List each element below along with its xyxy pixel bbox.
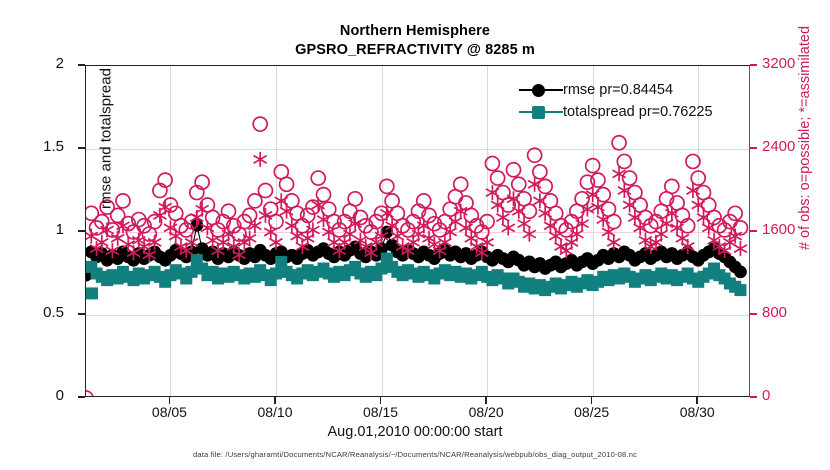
y-tick-label-left: 1.5 (20, 138, 64, 155)
x-tick-label: 08/05 (134, 404, 204, 420)
data-point-possible-obs (507, 163, 521, 177)
data-point-possible-obs (348, 192, 362, 206)
title-line-2: GPSRO_REFRACTIVITY @ 8285 m (0, 41, 830, 60)
y-tick-label-left: 2 (20, 55, 64, 72)
title-line-1: Northern Hemisphere (0, 22, 830, 41)
y-tick-right (750, 147, 757, 149)
y-tick-left (78, 230, 85, 232)
chart-legend: rmse pr=0.84454 totalspread pr=0.76225 (519, 80, 745, 121)
y-tick-left (78, 396, 85, 398)
data-point-possible-obs (258, 184, 272, 198)
data-point-possible-obs (596, 188, 610, 202)
x-tick-label: 08/30 (662, 404, 732, 420)
y-tick-label-right: 800 (762, 304, 818, 321)
x-tick-label: 08/15 (346, 404, 416, 420)
legend-label-rmse: rmse pr=0.84454 (563, 82, 673, 98)
data-point-possible-obs (280, 177, 294, 191)
chart-title: Northern Hemisphere GPSRO_REFRACTIVITY @… (0, 22, 830, 60)
y-tick-label-right: 0 (762, 387, 818, 404)
data-point-possible-obs (253, 117, 267, 131)
data-point-possible-obs (485, 157, 499, 171)
data-point-possible-obs (116, 194, 130, 208)
y-tick-left (78, 147, 85, 149)
x-tick (380, 397, 382, 404)
legend-marker-circle-icon (519, 82, 563, 98)
data-point-possible-obs (691, 171, 705, 185)
y-tick-right (750, 230, 757, 232)
data-point-possible-obs (591, 173, 605, 187)
data-point-possible-obs (380, 179, 394, 193)
legend-marker-square-icon (519, 104, 563, 120)
y-tick-left (78, 313, 85, 315)
legend-item-rmse[interactable]: rmse pr=0.84454 (519, 80, 745, 99)
x-tick-label: 08/25 (557, 404, 627, 420)
data-point-possible-obs (522, 204, 536, 218)
data-point-possible-obs (454, 177, 468, 191)
x-tick (485, 397, 487, 404)
x-tick (696, 397, 698, 404)
data-point-possible-obs (665, 179, 679, 193)
data-point-totalspread (86, 287, 98, 299)
data-point-totalspread (734, 284, 746, 296)
x-tick-label: 08/10 (240, 404, 310, 420)
legend-label-totalspread: totalspread pr=0.76225 (563, 104, 713, 120)
y-tick-label-left: 0 (20, 387, 64, 404)
y-tick-right (750, 396, 757, 398)
data-point-possible-obs (528, 148, 542, 162)
data-point-possible-obs (311, 171, 325, 185)
data-file-footer: data file: /Users/gharamti/Documents/NCA… (0, 450, 830, 459)
y-tick-label-left: 0.5 (20, 304, 64, 321)
data-point-possible-obs (586, 159, 600, 173)
data-point-possible-obs (686, 154, 700, 168)
data-point-assimilated-obs (254, 152, 267, 167)
y-tick-left (78, 64, 85, 66)
chart-root: Northern Hemisphere GPSRO_REFRACTIVITY @… (0, 0, 830, 470)
x-tick-label: 08/20 (451, 404, 521, 420)
data-point-possible-obs (512, 177, 526, 191)
data-point-possible-obs (617, 154, 631, 168)
x-tick (169, 397, 171, 404)
y-tick-label-left: 1 (20, 221, 64, 238)
legend-item-totalspread[interactable]: totalspread pr=0.76225 (519, 102, 745, 121)
x-tick (274, 397, 276, 404)
x-axis-label: Aug.01,2010 00:00:00 start (0, 424, 830, 440)
x-tick (591, 397, 593, 404)
data-point-possible-obs (248, 194, 262, 208)
y-tick-right (750, 64, 757, 66)
data-point-possible-obs (533, 165, 547, 179)
data-point-possible-obs (612, 136, 626, 150)
y-tick-right (750, 313, 757, 315)
y-axis-label-left: rmse and totalspread (98, 9, 115, 269)
data-point-possible-obs (491, 171, 505, 185)
series-asterisk (86, 152, 747, 262)
y-axis-label-right: # of obs: o=possible; *=assimilated (797, 0, 813, 288)
data-point-possible-obs (86, 391, 93, 397)
